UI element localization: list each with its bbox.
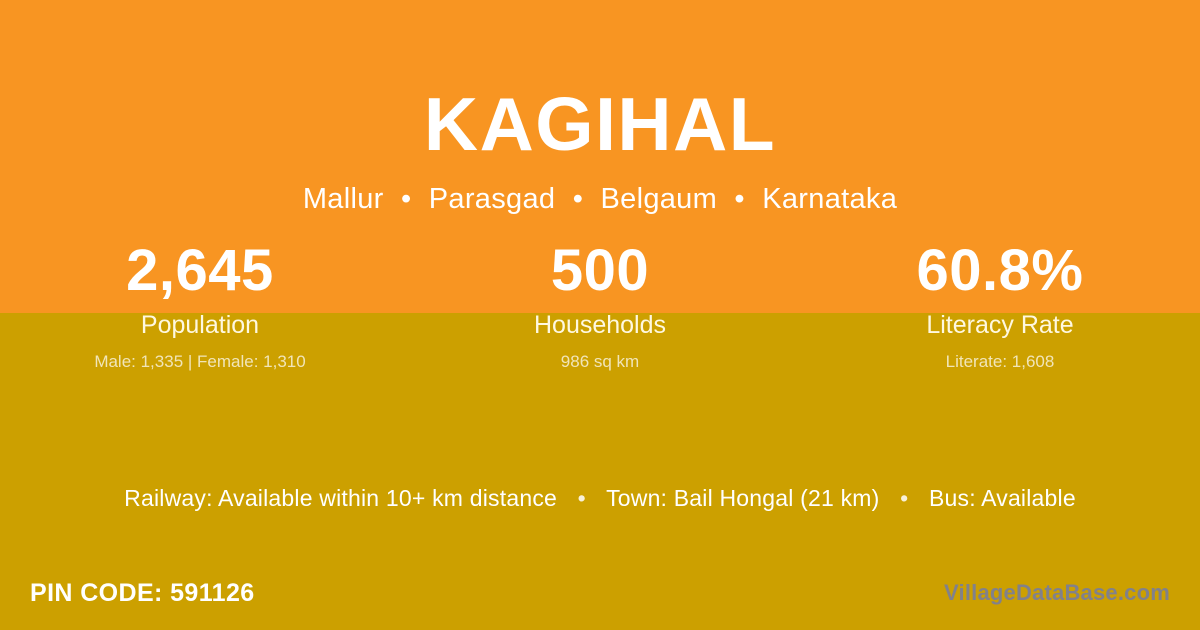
breadcrumb-part-subdistrict: Mallur xyxy=(303,183,384,215)
stat-subtext: 986 sq km xyxy=(400,351,800,373)
stat-subtext: Literate: 1,608 xyxy=(800,351,1200,373)
hero-section: KAGIHAL Mallur • Parasgad • Belgaum • Ka… xyxy=(0,0,1200,216)
breadcrumb-separator: • xyxy=(392,183,420,215)
amenity-separator: • xyxy=(886,485,922,511)
stats-row: 2,645 Population Male: 1,335 | Female: 1… xyxy=(0,238,1200,373)
stat-value: 500 xyxy=(400,238,800,304)
footer: PIN CODE: 591126 VillageDataBase.com xyxy=(0,572,1200,614)
amenity-railway: Railway: Available within 10+ km distanc… xyxy=(124,485,557,511)
stat-households: 500 Households 986 sq km xyxy=(400,238,800,373)
breadcrumb-separator: • xyxy=(564,183,592,215)
pin-code: PIN CODE: 591126 xyxy=(30,578,255,608)
breadcrumb-part-taluk: Parasgad xyxy=(429,183,556,215)
amenities-line: Railway: Available within 10+ km distanc… xyxy=(0,483,1200,513)
breadcrumb-part-state: Karnataka xyxy=(762,183,897,215)
stat-label: Literacy Rate xyxy=(800,310,1200,340)
amenity-town: Town: Bail Hongal (21 km) xyxy=(606,485,879,511)
village-info-card: KAGIHAL Mallur • Parasgad • Belgaum • Ka… xyxy=(0,0,1200,630)
stat-label: Population xyxy=(0,310,400,340)
amenity-separator: • xyxy=(564,485,600,511)
stat-population: 2,645 Population Male: 1,335 | Female: 1… xyxy=(0,238,400,373)
stat-value: 60.8% xyxy=(800,238,1200,304)
breadcrumb: Mallur • Parasgad • Belgaum • Karnataka xyxy=(0,166,1200,216)
stat-value: 2,645 xyxy=(0,238,400,304)
stat-literacy-rate: 60.8% Literacy Rate Literate: 1,608 xyxy=(800,238,1200,373)
page-title: KAGIHAL xyxy=(0,0,1200,166)
site-brand: VillageDataBase.com xyxy=(944,579,1170,607)
breadcrumb-part-district: Belgaum xyxy=(601,183,718,215)
stat-subtext: Male: 1,335 | Female: 1,310 xyxy=(0,351,400,373)
amenity-bus: Bus: Available xyxy=(929,485,1076,511)
stat-label: Households xyxy=(400,310,800,340)
breadcrumb-separator: • xyxy=(725,183,753,215)
